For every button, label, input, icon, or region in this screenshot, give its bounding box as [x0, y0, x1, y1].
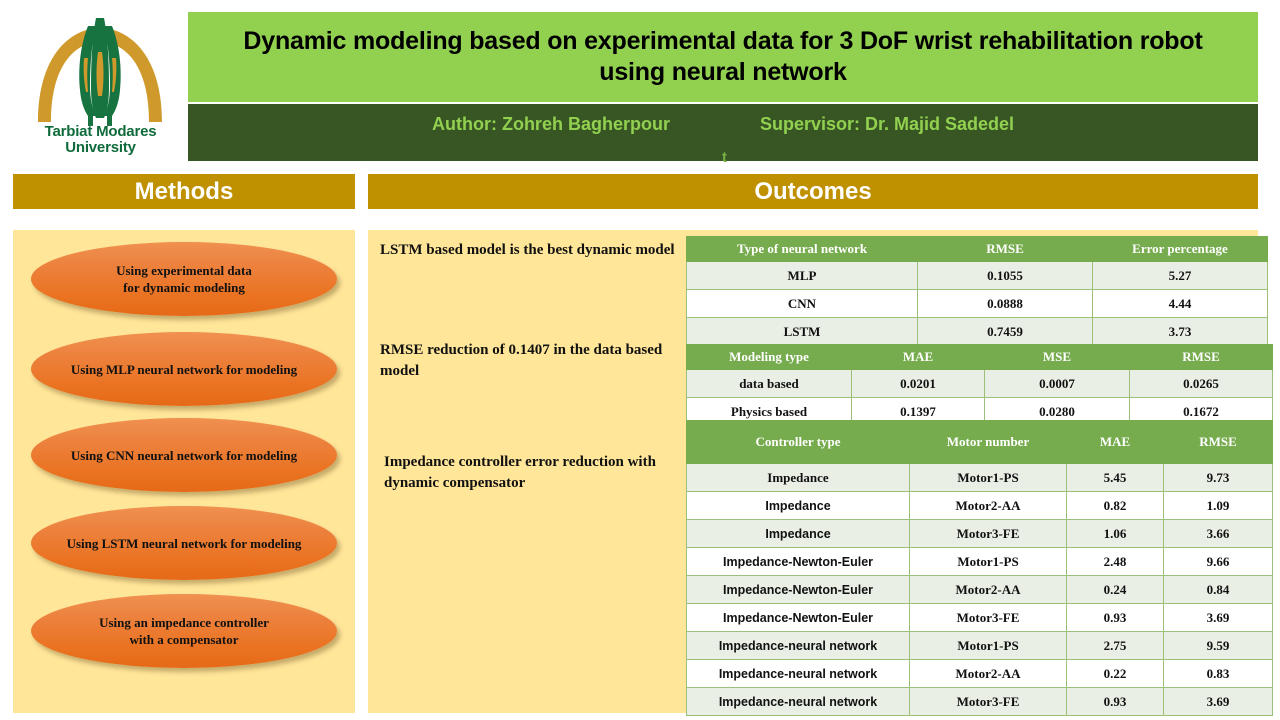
table-cell: Motor2-AA: [910, 492, 1067, 520]
neural-network-results-table: Type of neural networkRMSEError percenta…: [686, 236, 1268, 346]
table-cell: Motor1-PS: [910, 632, 1067, 660]
tarbiat-modares-logo-icon: [18, 8, 183, 128]
section-header-methods: Methods: [13, 174, 355, 209]
table-body: ImpedanceMotor1-PS5.459.73ImpedanceMotor…: [687, 464, 1273, 716]
outcome-note: Impedance controller error reduction wit…: [384, 452, 684, 494]
outcome-note: RMSE reduction of 0.1407 in the data bas…: [380, 340, 680, 382]
table-cell: 0.0265: [1130, 370, 1273, 398]
stray-text-artifact: t: [722, 149, 727, 166]
outcome-note: LSTM based model is the best dynamic mod…: [380, 240, 680, 261]
methods-panel: Using experimental datafor dynamic model…: [13, 230, 355, 713]
table-cell: 0.1055: [918, 262, 1093, 290]
logo-wordmark: Tarbiat Modares University: [18, 124, 183, 156]
section-header-methods-label: Methods: [135, 178, 234, 206]
table-header-row: Type of neural networkRMSEError percenta…: [687, 237, 1268, 262]
table-cell: Impedance-neural network: [687, 660, 910, 688]
column-header: MSE: [985, 345, 1130, 370]
table-cell: 0.0201: [852, 370, 985, 398]
table-row: ImpedanceMotor3-FE1.063.66: [687, 520, 1273, 548]
column-header: Controller type: [687, 421, 910, 464]
method-step-ellipse: Using an impedance controllerwith a comp…: [31, 594, 337, 668]
table-row: Impedance-Newton-EulerMotor1-PS2.489.66: [687, 548, 1273, 576]
method-step-label: Using experimental datafor dynamic model…: [116, 262, 252, 296]
table-cell: Impedance-neural network: [687, 632, 910, 660]
author-label: Author: Zohreh Bagherpour: [432, 114, 670, 135]
column-header: RMSE: [1164, 421, 1273, 464]
table-row: CNN0.08884.44: [687, 290, 1268, 318]
table-body: data based0.02010.00070.0265Physics base…: [687, 370, 1273, 426]
table-cell: 0.7459: [918, 318, 1093, 346]
section-header-outcomes: Outcomes: [368, 174, 1258, 209]
table-cell: 9.73: [1164, 464, 1273, 492]
table-cell: 3.69: [1164, 688, 1273, 716]
logo-line-2: University: [18, 140, 183, 156]
table-cell: 1.09: [1164, 492, 1273, 520]
table-body: MLP0.10555.27CNN0.08884.44LSTM0.74593.73: [687, 262, 1268, 346]
table-cell: Impedance-Newton-Euler: [687, 548, 910, 576]
table-cell: 5.27: [1093, 262, 1268, 290]
table-cell: 9.66: [1164, 548, 1273, 576]
column-header: RMSE: [918, 237, 1093, 262]
outcomes-panel: LSTM based model is the best dynamic mod…: [368, 230, 1258, 713]
method-step-label: Using an impedance controllerwith a comp…: [99, 614, 269, 648]
column-header: Error percentage: [1093, 237, 1268, 262]
method-step-ellipse: Using MLP neural network for modeling: [31, 332, 337, 406]
university-logo: Tarbiat Modares University: [18, 8, 183, 168]
method-step-label: Using LSTM neural network for modeling: [67, 535, 302, 552]
table-cell: 3.69: [1164, 604, 1273, 632]
table-header-row: Controller typeMotor numberMAERMSE: [687, 421, 1273, 464]
table-cell: 0.93: [1067, 688, 1164, 716]
method-step-label: Using CNN neural network for modeling: [71, 447, 297, 464]
column-header: MAE: [1067, 421, 1164, 464]
controller-results-table: Controller typeMotor numberMAERMSE Imped…: [686, 420, 1273, 716]
modeling-type-results-table: Modeling typeMAEMSERMSE data based0.0201…: [686, 344, 1273, 426]
table-cell: Motor1-PS: [910, 464, 1067, 492]
page-title: Dynamic modeling based on experimental d…: [208, 26, 1238, 88]
table-cell: Impedance: [687, 520, 910, 548]
table-cell: Impedance: [687, 464, 910, 492]
table-cell: Motor1-PS: [910, 548, 1067, 576]
table-cell: Impedance: [687, 492, 910, 520]
poster-canvas: Tarbiat Modares University Dynamic model…: [0, 0, 1280, 720]
table-row: ImpedanceMotor1-PS5.459.73: [687, 464, 1273, 492]
logo-line-1: Tarbiat Modares: [18, 124, 183, 140]
table-cell: Impedance-Newton-Euler: [687, 576, 910, 604]
table-row: Impedance-neural networkMotor2-AA0.220.8…: [687, 660, 1273, 688]
table-cell: 0.93: [1067, 604, 1164, 632]
table-cell: Impedance-neural network: [687, 688, 910, 716]
table-cell: MLP: [687, 262, 918, 290]
table-cell: 0.82: [1067, 492, 1164, 520]
table-row: Impedance-neural networkMotor3-FE0.933.6…: [687, 688, 1273, 716]
table-cell: Motor2-AA: [910, 576, 1067, 604]
table-cell: Motor3-FE: [910, 520, 1067, 548]
column-header: MAE: [852, 345, 985, 370]
table-cell: 5.45: [1067, 464, 1164, 492]
table-cell: 0.24: [1067, 576, 1164, 604]
method-step-label: Using MLP neural network for modeling: [71, 361, 297, 378]
table-cell: Impedance-Newton-Euler: [687, 604, 910, 632]
table-cell: LSTM: [687, 318, 918, 346]
table-cell: 2.75: [1067, 632, 1164, 660]
table-cell: Motor3-FE: [910, 604, 1067, 632]
method-step-ellipse: Using LSTM neural network for modeling: [31, 506, 337, 580]
method-step-ellipse: Using experimental datafor dynamic model…: [31, 242, 337, 316]
table-row: Impedance-Newton-EulerMotor2-AA0.240.84: [687, 576, 1273, 604]
table-cell: 0.22: [1067, 660, 1164, 688]
table-cell: data based: [687, 370, 852, 398]
column-header: RMSE: [1130, 345, 1273, 370]
table-header-row: Modeling typeMAEMSERMSE: [687, 345, 1273, 370]
table-row: LSTM0.74593.73: [687, 318, 1268, 346]
supervisor-label: Supervisor: Dr. Majid Sadedel: [760, 114, 1014, 135]
column-header: Modeling type: [687, 345, 852, 370]
table-cell: 2.48: [1067, 548, 1164, 576]
method-step-ellipse: Using CNN neural network for modeling: [31, 418, 337, 492]
table-row: ImpedanceMotor2-AA0.821.09: [687, 492, 1273, 520]
column-header: Type of neural network: [687, 237, 918, 262]
table-row: Impedance-neural networkMotor1-PS2.759.5…: [687, 632, 1273, 660]
table-cell: 0.0007: [985, 370, 1130, 398]
table-cell: 4.44: [1093, 290, 1268, 318]
table-cell: 1.06: [1067, 520, 1164, 548]
poster-title-bar: Dynamic modeling based on experimental d…: [188, 12, 1258, 102]
table-cell: 0.0888: [918, 290, 1093, 318]
section-header-outcomes-label: Outcomes: [754, 178, 871, 206]
table-cell: 0.84: [1164, 576, 1273, 604]
table-cell: CNN: [687, 290, 918, 318]
table-cell: Motor2-AA: [910, 660, 1067, 688]
table-cell: Motor3-FE: [910, 688, 1067, 716]
table-row: MLP0.10555.27: [687, 262, 1268, 290]
table-cell: 9.59: [1164, 632, 1273, 660]
table-cell: 3.66: [1164, 520, 1273, 548]
table-row: data based0.02010.00070.0265: [687, 370, 1273, 398]
table-cell: 0.83: [1164, 660, 1273, 688]
table-cell: 3.73: [1093, 318, 1268, 346]
table-row: Impedance-Newton-EulerMotor3-FE0.933.69: [687, 604, 1273, 632]
column-header: Motor number: [910, 421, 1067, 464]
